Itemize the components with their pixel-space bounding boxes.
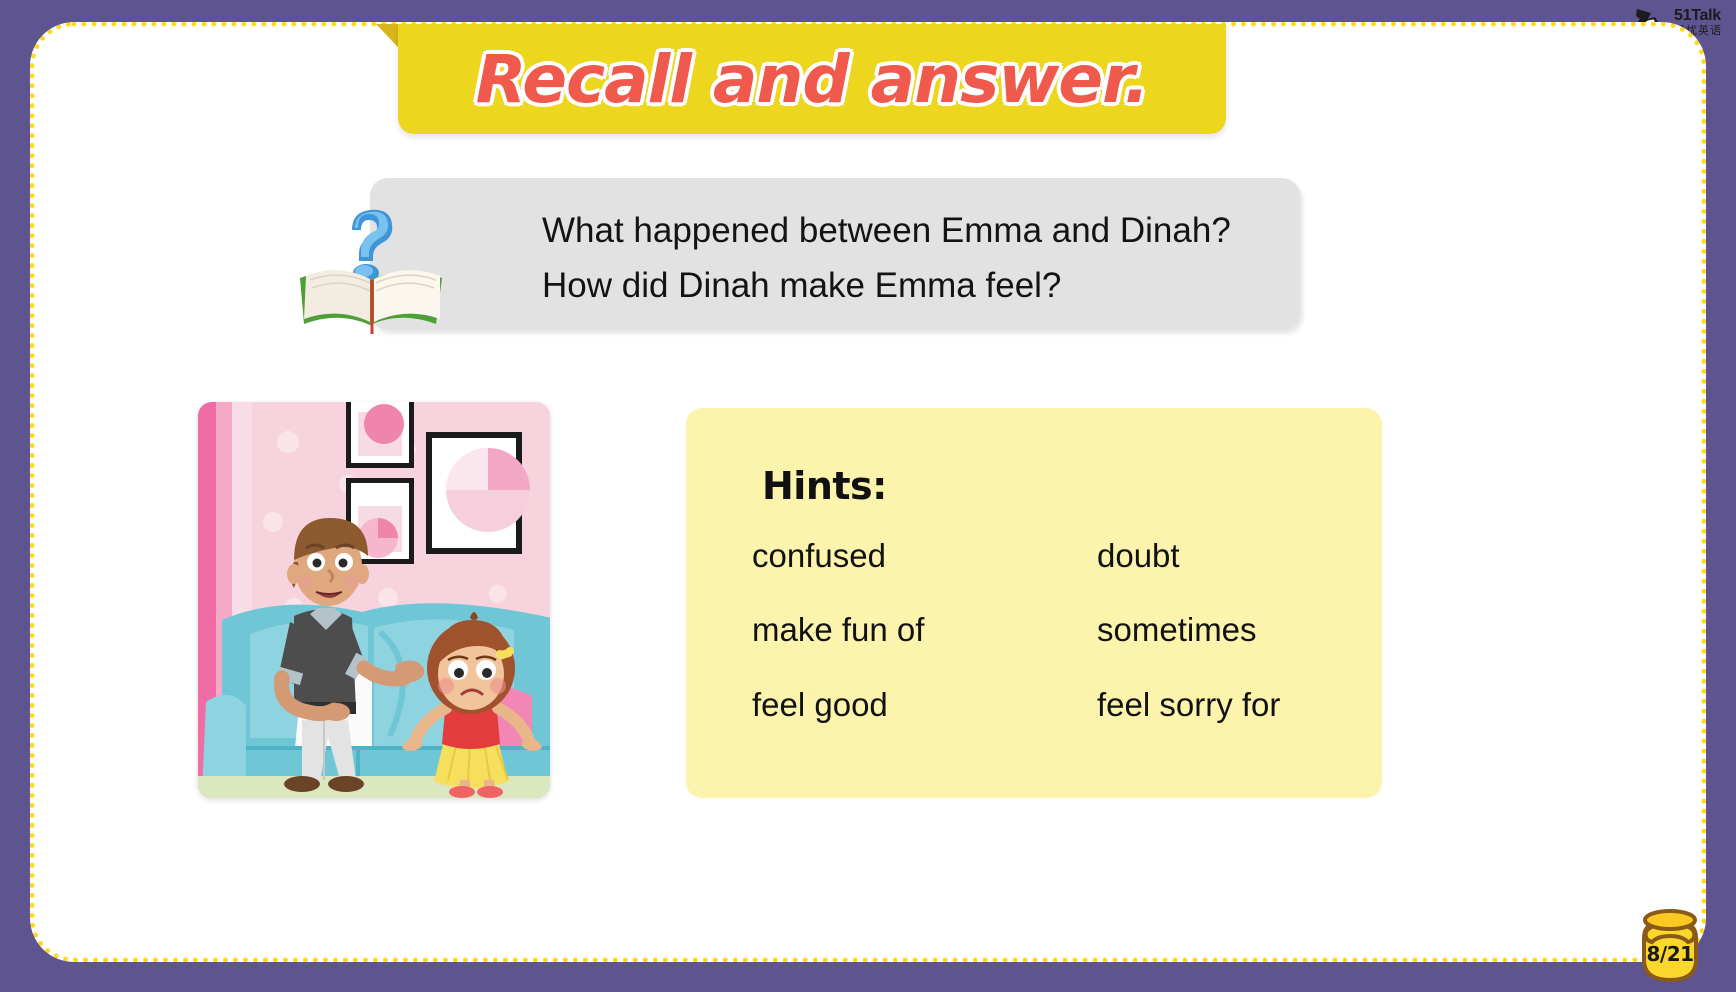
scene-illustration-art <box>198 402 550 798</box>
title-banner: Recall and answer. <box>376 24 1226 134</box>
question-bubble: What happened between Emma and Dinah? Ho… <box>370 178 1300 330</box>
hints-title: Hints: <box>762 464 887 508</box>
hints-word-grid: confused doubt make fun of sometimes fee… <box>752 538 1372 723</box>
hints-card: Hints: confused doubt make fun of someti… <box>686 408 1382 798</box>
honey-jar-icon <box>1632 898 1708 984</box>
page-title: Recall and answer. <box>476 41 1149 118</box>
scene-illustration <box>198 402 550 798</box>
page-number: 8/21 <box>1632 942 1708 966</box>
hint-word: confused <box>752 538 1097 574</box>
question-section: What happened between Emma and Dinah? Ho… <box>288 178 1308 338</box>
open-book-question-mark-icon <box>288 194 458 334</box>
page-indicator: 8/21 <box>1632 898 1708 984</box>
hint-word: make fun of <box>752 612 1097 648</box>
brand-name-en: 51Talk <box>1674 8 1722 24</box>
hint-word: feel good <box>752 687 1097 723</box>
hint-word: doubt <box>1097 538 1372 574</box>
question-line-2: How did Dinah make Emma feel? <box>542 259 1270 314</box>
slide-canvas: 51Talk 无忧英语 Recall and answer. What happ… <box>0 0 1736 992</box>
question-line-1: What happened between Emma and Dinah? <box>542 204 1270 259</box>
hint-word: feel sorry for <box>1097 687 1372 723</box>
ribbon-body: Recall and answer. <box>398 24 1226 134</box>
hint-word: sometimes <box>1097 612 1372 648</box>
